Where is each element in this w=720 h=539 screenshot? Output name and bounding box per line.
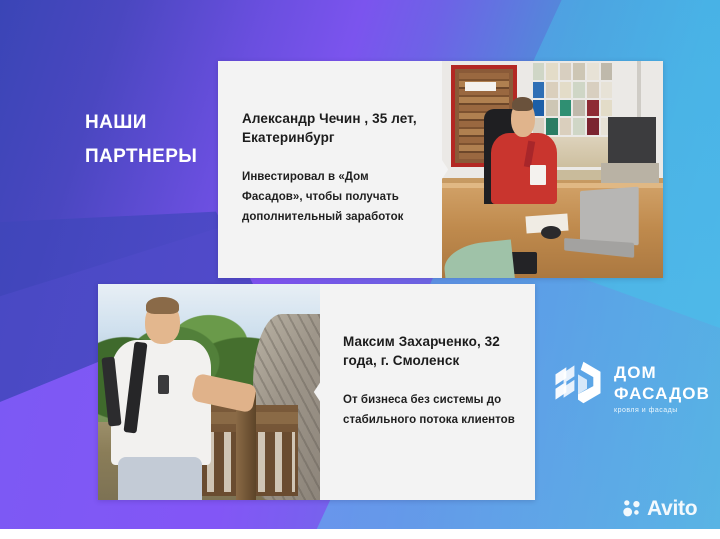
testimonial-name: Александр Чечин , 35 лет, Екатеринбург — [242, 109, 424, 147]
brand-tagline: кровля и фасады — [614, 407, 710, 414]
showroom-color-swatch-grid — [533, 63, 613, 135]
avito-dots-icon — [622, 498, 643, 519]
testimonial-text-block: Максим Захарченко, 32 года, г. Смоленск … — [320, 284, 535, 500]
brand-line-1: ДОМ — [614, 362, 710, 383]
avito-wordmark: Avito — [647, 498, 697, 519]
brand-wordmark: ДОМ ФАСАДОВ кровля и фасады — [614, 360, 710, 414]
testimonial-photo-outdoor — [98, 284, 320, 500]
testimonial-card-maksim-zakharchenko[interactable]: Максим Захарченко, 32 года, г. Смоленск … — [98, 284, 535, 500]
background-bottom-strip — [0, 529, 720, 539]
photo-outdoor-scene — [98, 284, 320, 500]
testimonial-quote: Инвестировал в «Дом Фасадов», чтобы полу… — [242, 167, 424, 227]
desk-laptop — [580, 187, 638, 246]
showroom-monitor — [608, 117, 657, 165]
person-name-badge — [530, 165, 545, 185]
photo-showroom-scene — [442, 61, 663, 278]
testimonial-photo-showroom — [442, 61, 663, 278]
person-shorts — [118, 457, 202, 500]
brand-line-2: ФАСАДОВ — [614, 383, 710, 404]
page-title-line-1: НАШИ — [85, 106, 235, 140]
testimonial-text-block: Александр Чечин , 35 лет, Екатеринбург И… — [218, 61, 442, 278]
person-red-polo-body — [491, 133, 557, 205]
page-title: НАШИ ПАРТНЕРЫ — [85, 106, 235, 174]
brand-logo: ДОМ ФАСАДОВ кровля и фасады — [551, 358, 710, 416]
page-title-line-2: ПАРТНЕРЫ — [85, 140, 235, 174]
testimonial-quote: От бизнеса без системы до стабильного по… — [343, 390, 521, 430]
avito-watermark: Avito — [622, 498, 697, 519]
promo-slide: НАШИ ПАРТНЕРЫ Александр Чечин , 35 лет, … — [0, 0, 720, 539]
person-red-polo-head — [511, 100, 535, 137]
person-white-tee-head — [145, 301, 181, 344]
tee-print-graphic — [158, 375, 169, 394]
dom-fasadov-logo-icon — [551, 358, 605, 416]
testimonial-name: Максим Захарченко, 32 года, г. Смоленск — [343, 332, 521, 370]
testimonial-card-aleksandr-chechin[interactable]: Александр Чечин , 35 лет, Екатеринбург И… — [218, 61, 663, 278]
